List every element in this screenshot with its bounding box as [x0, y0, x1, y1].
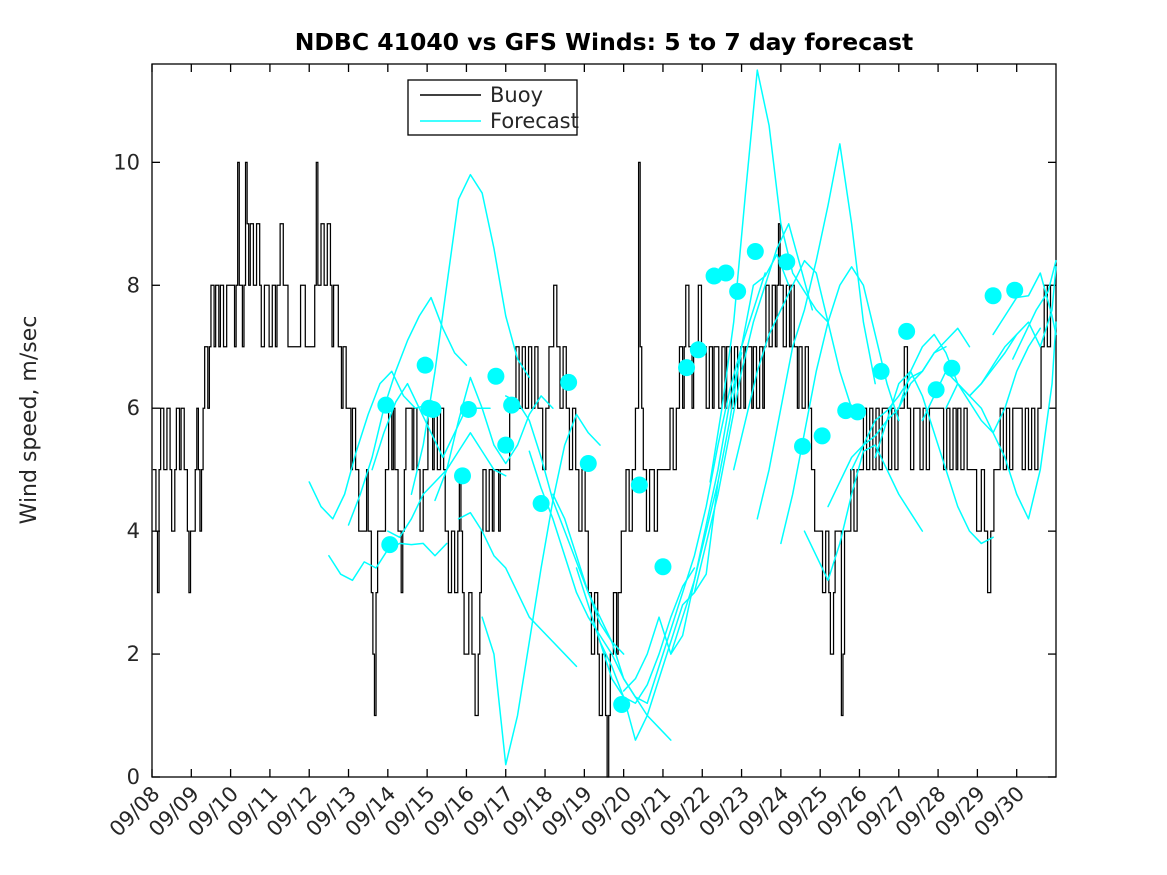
forecast-marker-17 — [690, 341, 707, 358]
forecast-marker-layer — [377, 243, 1023, 713]
forecast-marker-27 — [873, 363, 890, 380]
forecast-marker-11 — [560, 374, 577, 391]
chart-legend[interactable]: BuoyForecast — [408, 80, 579, 135]
wind-speed-chart: NDBC 41040 vs GFS Winds: 5 to 7 day fore… — [0, 0, 1167, 875]
forecast-marker-2 — [417, 357, 434, 374]
forecast-marker-12 — [580, 455, 597, 472]
y-tick-label: 6 — [127, 396, 140, 420]
forecast-marker-31 — [985, 287, 1002, 304]
forecast-marker-8 — [497, 437, 514, 454]
forecast-marker-23 — [794, 438, 811, 455]
y-tick-label: 4 — [127, 519, 140, 543]
series-line-forecast-28 — [946, 267, 1056, 408]
forecast-marker-13 — [613, 696, 630, 713]
y-tick-label: 2 — [127, 642, 140, 666]
chart-title-group: NDBC 41040 vs GFS Winds: 5 to 7 day fore… — [295, 28, 913, 56]
forecast-marker-6 — [460, 401, 477, 418]
forecast-marker-28 — [898, 323, 915, 340]
forecast-marker-26 — [849, 403, 866, 420]
forecast-marker-21 — [747, 243, 764, 260]
forecast-marker-9 — [503, 397, 520, 414]
forecast-marker-15 — [654, 558, 671, 575]
series-line-forecast-9 — [506, 396, 624, 654]
x-axis-ticks: 09/0809/0909/1009/1109/1209/1309/1409/15… — [105, 64, 1029, 841]
legend-label-buoy[interactable]: Buoy — [490, 83, 543, 107]
y-tick-label: 10 — [113, 150, 140, 174]
y-axis-label-group: Wind speed, m/sec — [17, 316, 42, 525]
forecast-marker-5 — [454, 467, 471, 484]
forecast-marker-10 — [533, 495, 550, 512]
forecast-marker-4 — [425, 401, 442, 418]
chart-figure: NDBC 41040 vs GFS Winds: 5 to 7 day fore… — [0, 0, 1167, 875]
y-tick-label: 8 — [127, 273, 140, 297]
forecast-marker-20 — [729, 283, 746, 300]
data-series-layer — [153, 162, 1052, 777]
series-line-forecast-15 — [647, 273, 765, 703]
page-title: NDBC 41040 vs GFS Winds: 5 to 7 day fore… — [295, 28, 913, 56]
forecast-marker-19 — [717, 264, 734, 281]
forecast-marker-0 — [377, 397, 394, 414]
forecast-marker-32 — [1006, 282, 1023, 299]
forecast-marker-1 — [381, 536, 398, 553]
y-axis-label: Wind speed, m/sec — [17, 316, 42, 525]
legend-label-forecast[interactable]: Forecast — [490, 109, 579, 133]
forecast-marker-30 — [943, 360, 960, 377]
forecast-marker-22 — [778, 253, 795, 270]
forecast-marker-29 — [928, 381, 945, 398]
y-tick-label: 0 — [127, 765, 140, 789]
forecast-marker-24 — [814, 427, 831, 444]
series-line-forecast-31 — [1013, 261, 1056, 359]
forecast-marker-16 — [678, 359, 695, 376]
forecast-marker-7 — [487, 368, 504, 385]
series-line-forecast-11 — [553, 494, 671, 740]
forecast-marker-14 — [631, 477, 648, 494]
series-line-buoy — [153, 162, 1052, 777]
